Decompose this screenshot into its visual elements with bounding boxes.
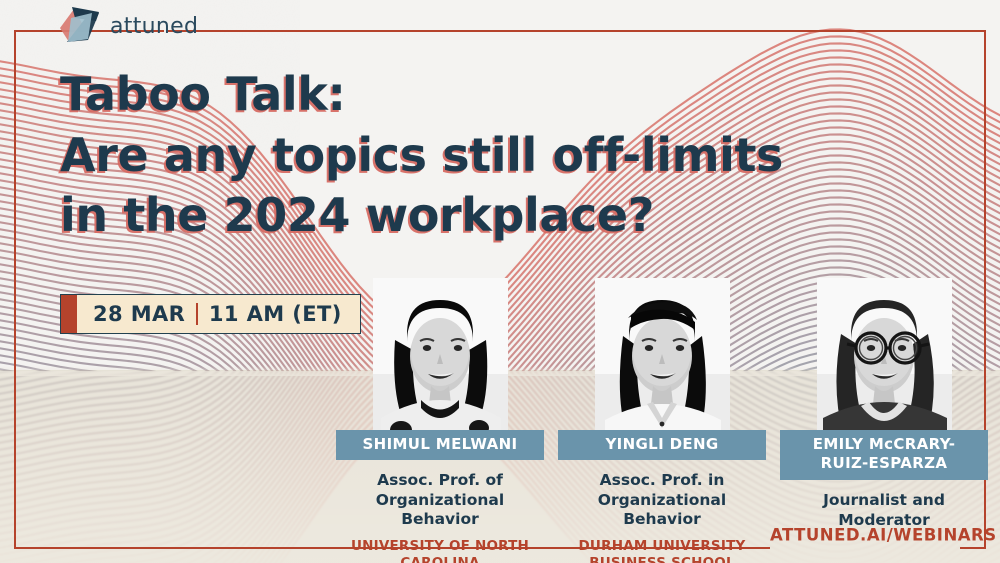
speaker-list: SHIMUL MELWANIAssoc. Prof. ofOrganizatio… bbox=[336, 278, 988, 563]
event-date: 28 MAR bbox=[93, 302, 185, 326]
speaker-name-plate: EMILY McCRARY-RUIZ-ESPARZA bbox=[780, 430, 988, 480]
speaker-role-line: Assoc. Prof. of bbox=[336, 471, 544, 491]
speaker-name-plate: YINGLI DENG bbox=[558, 430, 766, 460]
headline-line-1: Taboo Talk: bbox=[60, 64, 850, 125]
speaker-organization: UNIVERSITY OF NORTHCAROLINA bbox=[351, 538, 529, 563]
frame-border-left bbox=[14, 30, 16, 548]
footer-url[interactable]: ATTUNED.AI/WEBINARS bbox=[770, 526, 997, 545]
speaker-photo-emily-mccrary-ruiz-esparza bbox=[780, 278, 988, 443]
speaker-photo-shimul-melwani bbox=[336, 278, 544, 443]
attuned-logo-mark bbox=[58, 4, 104, 48]
event-datetime-badge: 28 MAR 11 AM (ET) bbox=[60, 294, 361, 334]
date-time-divider bbox=[196, 303, 198, 325]
speaker-name-line: EMILY McCRARY- bbox=[788, 435, 980, 454]
frame-border-top-right bbox=[168, 30, 986, 32]
headline-line-3: in the 2024 workplace? bbox=[60, 185, 850, 246]
speaker-card: EMILY McCRARY-RUIZ-ESPARZAJournalist and… bbox=[780, 278, 988, 530]
speaker-name-plate: SHIMUL MELWANI bbox=[336, 430, 544, 460]
speaker-organization-line: BUSINESS SCHOOL bbox=[579, 555, 746, 563]
speaker-card: YINGLI DENGAssoc. Prof. inOrganizational… bbox=[558, 278, 766, 563]
speaker-role: Assoc. Prof. ofOrganizational Behavior bbox=[336, 471, 544, 530]
speaker-role-line: Journalist and bbox=[823, 491, 945, 511]
speaker-card: SHIMUL MELWANIAssoc. Prof. ofOrganizatio… bbox=[336, 278, 544, 563]
attuned-logo[interactable]: attuned bbox=[58, 4, 198, 48]
speaker-organization: DURHAM UNIVERSITYBUSINESS SCHOOL bbox=[579, 538, 746, 563]
speaker-organization-line: CAROLINA bbox=[351, 555, 529, 563]
speaker-role: Assoc. Prof. inOrganizational Behavior bbox=[558, 471, 766, 530]
speaker-role-line: Organizational Behavior bbox=[558, 491, 766, 530]
speaker-organization-line: DURHAM UNIVERSITY bbox=[579, 538, 746, 555]
webinar-poster: attuned Taboo Talk: Are any topics still… bbox=[0, 0, 1000, 563]
speaker-name-line: SHIMUL MELWANI bbox=[348, 435, 532, 454]
speaker-name-line: YINGLI DENG bbox=[570, 435, 754, 454]
page-title: Taboo Talk: Are any topics still off-lim… bbox=[60, 64, 850, 246]
headline-line-2: Are any topics still off-limits bbox=[60, 125, 850, 186]
speaker-organization-line: UNIVERSITY OF NORTH bbox=[351, 538, 529, 555]
speaker-role-line: Assoc. Prof. in bbox=[558, 471, 766, 491]
attuned-logo-wordmark: attuned bbox=[110, 14, 198, 39]
date-badge-body: 28 MAR 11 AM (ET) bbox=[77, 295, 360, 333]
speaker-name-line: RUIZ-ESPARZA bbox=[788, 454, 980, 473]
speaker-photo-yingli-deng bbox=[558, 278, 766, 443]
speaker-role-line: Organizational Behavior bbox=[336, 491, 544, 530]
event-time: 11 AM (ET) bbox=[209, 302, 342, 326]
date-badge-accent-bar bbox=[61, 295, 77, 333]
